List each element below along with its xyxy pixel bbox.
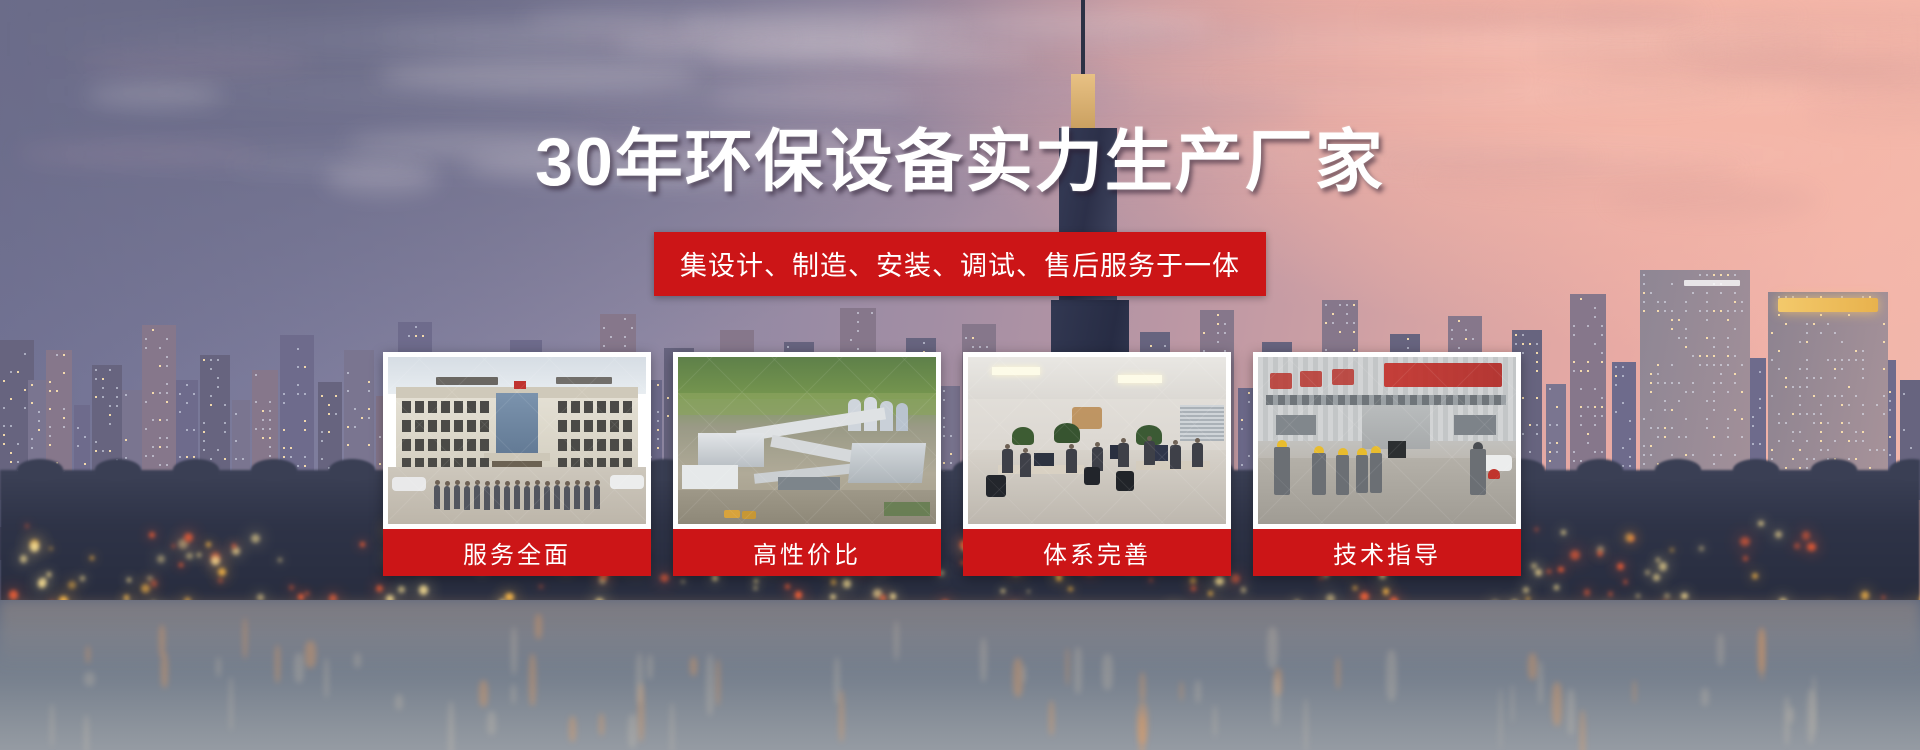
photo-watermark [1258, 357, 1516, 524]
shore-light [795, 591, 802, 598]
shore-light [149, 532, 155, 538]
building-window [1727, 346, 1729, 348]
building-window [1834, 332, 1836, 334]
building-window [1734, 328, 1736, 330]
building-window [290, 447, 292, 449]
building-window [1346, 313, 1348, 315]
building-window [17, 443, 19, 445]
water-reflection [716, 659, 720, 705]
building-window [1799, 449, 1801, 451]
water-reflection [354, 653, 361, 668]
water-reflection [1102, 654, 1113, 690]
water-reflection [395, 694, 403, 711]
photo-watermark [678, 357, 936, 524]
building-window [217, 449, 219, 451]
feature-card-system[interactable]: 体系完善 [963, 352, 1231, 576]
building-window [1862, 413, 1864, 415]
shore-light [251, 534, 260, 543]
building-window [1699, 364, 1701, 366]
water-reflection [1807, 689, 1815, 744]
building-window [1217, 332, 1219, 334]
building-window [1522, 352, 1524, 354]
shore-light [681, 580, 684, 583]
building-window [979, 346, 981, 348]
water-reflection [1552, 682, 1562, 726]
building-window [1353, 304, 1355, 306]
building-window [1332, 313, 1334, 315]
building-window [1353, 331, 1355, 333]
water-reflection [839, 690, 844, 743]
building-window [1678, 436, 1680, 438]
building-window [1664, 427, 1666, 429]
building-window [1657, 382, 1659, 384]
shore-light [1215, 577, 1223, 585]
building-window [361, 417, 363, 419]
building-window [1713, 436, 1715, 438]
water-reflection [229, 677, 232, 730]
shore-light [1636, 594, 1640, 598]
building-window [210, 359, 212, 361]
building-window [1883, 395, 1885, 397]
building-window [31, 447, 33, 449]
building-window [1869, 449, 1871, 451]
building-window [321, 431, 323, 433]
building-window [56, 390, 58, 392]
building-window [95, 441, 97, 443]
building-window [1883, 413, 1885, 415]
shore-light [843, 579, 852, 588]
shore-light [1001, 589, 1005, 593]
building-window [1727, 274, 1729, 276]
building-window [193, 393, 195, 395]
building-window [269, 401, 271, 403]
building-window [186, 429, 188, 431]
building-window [1806, 359, 1808, 361]
building-window [1806, 341, 1808, 343]
building-window [1820, 332, 1822, 334]
building-window [1813, 323, 1815, 325]
shore-light [1554, 585, 1559, 590]
shore-light [1653, 574, 1660, 581]
building-window [1650, 445, 1652, 447]
building-window [1629, 420, 1631, 422]
building-window [203, 422, 205, 424]
water-reflection [84, 715, 89, 750]
building-window [1643, 301, 1645, 303]
building-window [1601, 325, 1603, 327]
building-window [1841, 404, 1843, 406]
building-window [95, 378, 97, 380]
building-window [1699, 310, 1701, 312]
shore-light [68, 581, 76, 589]
shore-light [1383, 588, 1390, 595]
building-window [1799, 368, 1801, 370]
building-window [1346, 322, 1348, 324]
building-window [603, 345, 605, 347]
shore-light [289, 585, 294, 590]
building-window [1813, 395, 1815, 397]
water-reflection [647, 655, 652, 679]
building-window [210, 395, 212, 397]
building-window [217, 359, 219, 361]
water-reflection [1022, 665, 1026, 683]
building-window [1203, 332, 1205, 334]
building-window [1889, 400, 1891, 402]
building-window [1671, 310, 1673, 312]
shore-light [186, 553, 192, 559]
shore-light [1068, 587, 1073, 592]
building-window [1615, 366, 1617, 368]
building-window [1650, 427, 1652, 429]
building-window [1664, 310, 1666, 312]
building-window [1529, 343, 1531, 345]
building-window [116, 405, 118, 407]
building-window [1407, 338, 1409, 340]
building-window [1799, 404, 1801, 406]
building-window [1522, 334, 1524, 336]
building-window [1806, 440, 1808, 442]
building-window [116, 387, 118, 389]
building-window [297, 393, 299, 395]
building-window [1615, 375, 1617, 377]
building-window [283, 402, 285, 404]
building-window [283, 447, 285, 449]
building-window [321, 395, 323, 397]
building-window [347, 444, 349, 446]
building-window [1889, 409, 1891, 411]
building-window [1699, 274, 1701, 276]
building-window [972, 337, 974, 339]
building-window [1883, 368, 1885, 370]
building-window [255, 428, 257, 430]
building-window [1224, 323, 1226, 325]
building-window [1841, 395, 1843, 397]
building-window [283, 393, 285, 395]
building-window [166, 365, 168, 367]
building-window [328, 404, 330, 406]
building-window [1671, 364, 1673, 366]
building-window [1713, 382, 1715, 384]
shore-light [1681, 593, 1687, 599]
building-window [1601, 415, 1603, 417]
building-window [109, 450, 111, 452]
water-reflection [706, 654, 715, 716]
building-window [63, 372, 65, 374]
building-window [1465, 338, 1467, 340]
building-window [1580, 298, 1582, 300]
building-window [1862, 440, 1864, 442]
water-reflection [894, 621, 899, 661]
building-window [1650, 382, 1652, 384]
water-reflection [1140, 672, 1145, 703]
building-window [415, 335, 417, 337]
building-window [1785, 323, 1787, 325]
building-window [109, 414, 111, 416]
building-window [624, 345, 626, 347]
building-window [1549, 442, 1551, 444]
building-window [1706, 355, 1708, 357]
building-window [49, 381, 51, 383]
water-reflection [1273, 676, 1280, 726]
subtitle-banner: 集设计、制造、安装、调试、售后服务于一体 [654, 232, 1266, 296]
building-window [152, 392, 154, 394]
shore-light [41, 578, 46, 583]
building-window [1889, 391, 1891, 393]
building-window [1353, 322, 1355, 324]
building-window [1472, 338, 1474, 340]
building-window [1841, 341, 1843, 343]
building-window [1556, 451, 1558, 453]
building-window [1685, 346, 1687, 348]
building-window [56, 354, 58, 356]
building-window [1594, 424, 1596, 426]
water-reflection [1633, 680, 1636, 703]
building-window [95, 450, 97, 452]
water-reflection [50, 704, 53, 746]
building-window [1664, 301, 1666, 303]
building-window [1407, 347, 1409, 349]
building-window [63, 417, 65, 419]
building-window [368, 444, 370, 446]
building-window [1339, 331, 1341, 333]
shore-light [1547, 570, 1550, 573]
building-window [1706, 427, 1708, 429]
building-window [1720, 274, 1722, 276]
building-window [1827, 422, 1829, 424]
building-window [1820, 449, 1822, 451]
building-window [1862, 377, 1864, 379]
building-window [1685, 436, 1687, 438]
building-window [1720, 310, 1722, 312]
building-window [152, 446, 154, 448]
building-window [3, 380, 5, 382]
building-window [1587, 325, 1589, 327]
building-window [1806, 413, 1808, 415]
building-window [38, 429, 40, 431]
building-window [1799, 341, 1801, 343]
building-window [186, 384, 188, 386]
building-window [1601, 451, 1603, 453]
shore-light [1699, 546, 1704, 551]
building-window [1657, 301, 1659, 303]
building-window [1834, 368, 1836, 370]
building-window [262, 428, 264, 430]
building-window [1601, 334, 1603, 336]
feature-card-service[interactable]: 服务全面 [383, 352, 651, 576]
feature-card-technical[interactable]: 技术指导 [1253, 352, 1521, 576]
building-window [1622, 366, 1624, 368]
water-reflection [1336, 657, 1340, 689]
shore-light [1191, 586, 1195, 590]
building-window [49, 426, 51, 428]
building-window [1734, 373, 1736, 375]
building-window [1827, 323, 1829, 325]
building-window [152, 329, 154, 331]
building-window [1601, 352, 1603, 354]
building-window [1529, 451, 1531, 453]
building-window [125, 439, 127, 441]
building-window [1573, 325, 1575, 327]
shore-light [1625, 533, 1634, 542]
water-reflection [487, 711, 496, 735]
water-reflection [86, 646, 89, 662]
building-window [1806, 332, 1808, 334]
building-window [1820, 314, 1822, 316]
photo-watermark [968, 357, 1226, 524]
shore-light [184, 533, 193, 542]
building-window [269, 446, 271, 448]
water-reflection [1304, 698, 1308, 750]
building-window [1622, 447, 1624, 449]
building-window [347, 390, 349, 392]
building-window [1713, 400, 1715, 402]
water-reflection [294, 653, 305, 683]
building-window [1657, 310, 1659, 312]
building-window [1536, 433, 1538, 435]
building-window [1451, 338, 1453, 340]
building-window [304, 429, 306, 431]
building-window [1759, 398, 1761, 400]
building-window [1622, 402, 1624, 404]
water-reflection [628, 714, 637, 748]
building-window [1692, 391, 1694, 393]
building-window [1594, 343, 1596, 345]
building-window [1806, 323, 1808, 325]
building-window [1573, 334, 1575, 336]
shore-light [1241, 587, 1246, 592]
building-window [1855, 395, 1857, 397]
building-window [31, 384, 33, 386]
page-title: 30年环保设备实力生产厂家 [0, 128, 1920, 196]
building-window [857, 312, 859, 314]
building-window [1587, 442, 1589, 444]
building-window [631, 327, 633, 329]
card-caption: 高性价比 [673, 529, 941, 576]
building-window [1720, 364, 1722, 366]
building-window [1734, 355, 1736, 357]
building-window [1713, 391, 1715, 393]
building-window [1643, 292, 1645, 294]
building-window [1325, 349, 1327, 351]
building-window [1580, 424, 1582, 426]
feature-card-value[interactable]: 高性价比 [673, 352, 941, 576]
building-window [1643, 418, 1645, 420]
card-caption: 体系完善 [963, 529, 1231, 576]
water-reflection [159, 625, 165, 656]
building-window [1536, 370, 1538, 372]
building-window [1778, 422, 1780, 424]
water-reflection [1499, 688, 1502, 749]
shore-light [754, 586, 758, 590]
building-window [1862, 368, 1864, 370]
building-window [262, 437, 264, 439]
building-window [1862, 431, 1864, 433]
building-window [109, 423, 111, 425]
building-window [1556, 406, 1558, 408]
building-window [1580, 415, 1582, 417]
building-window [304, 393, 306, 395]
building-window [1876, 449, 1878, 451]
water-reflection [980, 638, 987, 682]
building-window [166, 356, 168, 358]
building-window [186, 402, 188, 404]
building-window [24, 389, 26, 391]
building-window [179, 393, 181, 395]
building-window [31, 438, 33, 440]
building-window [1903, 429, 1905, 431]
building-window [3, 434, 5, 436]
building-window [38, 411, 40, 413]
building-window [224, 431, 226, 433]
building-window [1813, 413, 1815, 415]
water-reflection [1386, 650, 1397, 700]
building-window [1650, 292, 1652, 294]
building-window [1573, 361, 1575, 363]
building-window [1643, 274, 1645, 276]
feature-card-list: 服务全面 [383, 352, 1521, 576]
shore-light [151, 580, 157, 586]
building-window [203, 449, 205, 451]
building-window [255, 401, 257, 403]
water-reflection [1267, 627, 1278, 669]
building-window [109, 405, 111, 407]
building-window [1657, 364, 1659, 366]
hero-banner: 30年环保设备实力生产厂家 集设计、制造、安装、调试、售后服务于一体 [0, 0, 1920, 750]
building-window [1720, 373, 1722, 375]
shore-light [30, 542, 40, 552]
building-window [1643, 283, 1645, 285]
building-window [166, 446, 168, 448]
building-window [1150, 345, 1152, 347]
building-window [1820, 440, 1822, 442]
building-window [1549, 451, 1551, 453]
building-window [1771, 395, 1773, 397]
building-window [1713, 364, 1715, 366]
building-window [368, 408, 370, 410]
building-window [1741, 310, 1743, 312]
building-window [624, 318, 626, 320]
building-window [203, 440, 205, 442]
building-window [1806, 368, 1808, 370]
water-reflection [599, 713, 605, 735]
building-window [1692, 355, 1694, 357]
building-window [1536, 361, 1538, 363]
building-window [1629, 438, 1631, 440]
building-window [1752, 416, 1754, 418]
building-window [1706, 292, 1708, 294]
building-window [1848, 440, 1850, 442]
building-window [159, 446, 161, 448]
shore-light [1535, 569, 1542, 576]
building-window [1862, 359, 1864, 361]
water-reflection [1074, 647, 1082, 695]
building-window [1580, 406, 1582, 408]
building-window [1785, 386, 1787, 388]
building-window [1671, 328, 1673, 330]
building-window [1910, 447, 1912, 449]
building-window [1164, 345, 1166, 347]
building-window [125, 394, 127, 396]
building-window [1458, 347, 1460, 349]
building-window [1727, 391, 1729, 393]
building-window [1650, 373, 1652, 375]
shore-light [1758, 521, 1763, 526]
building-window [1587, 406, 1589, 408]
water-reflection [1701, 688, 1708, 706]
building-window [1615, 411, 1617, 413]
shore-light [1598, 551, 1602, 555]
building-window [603, 327, 605, 329]
